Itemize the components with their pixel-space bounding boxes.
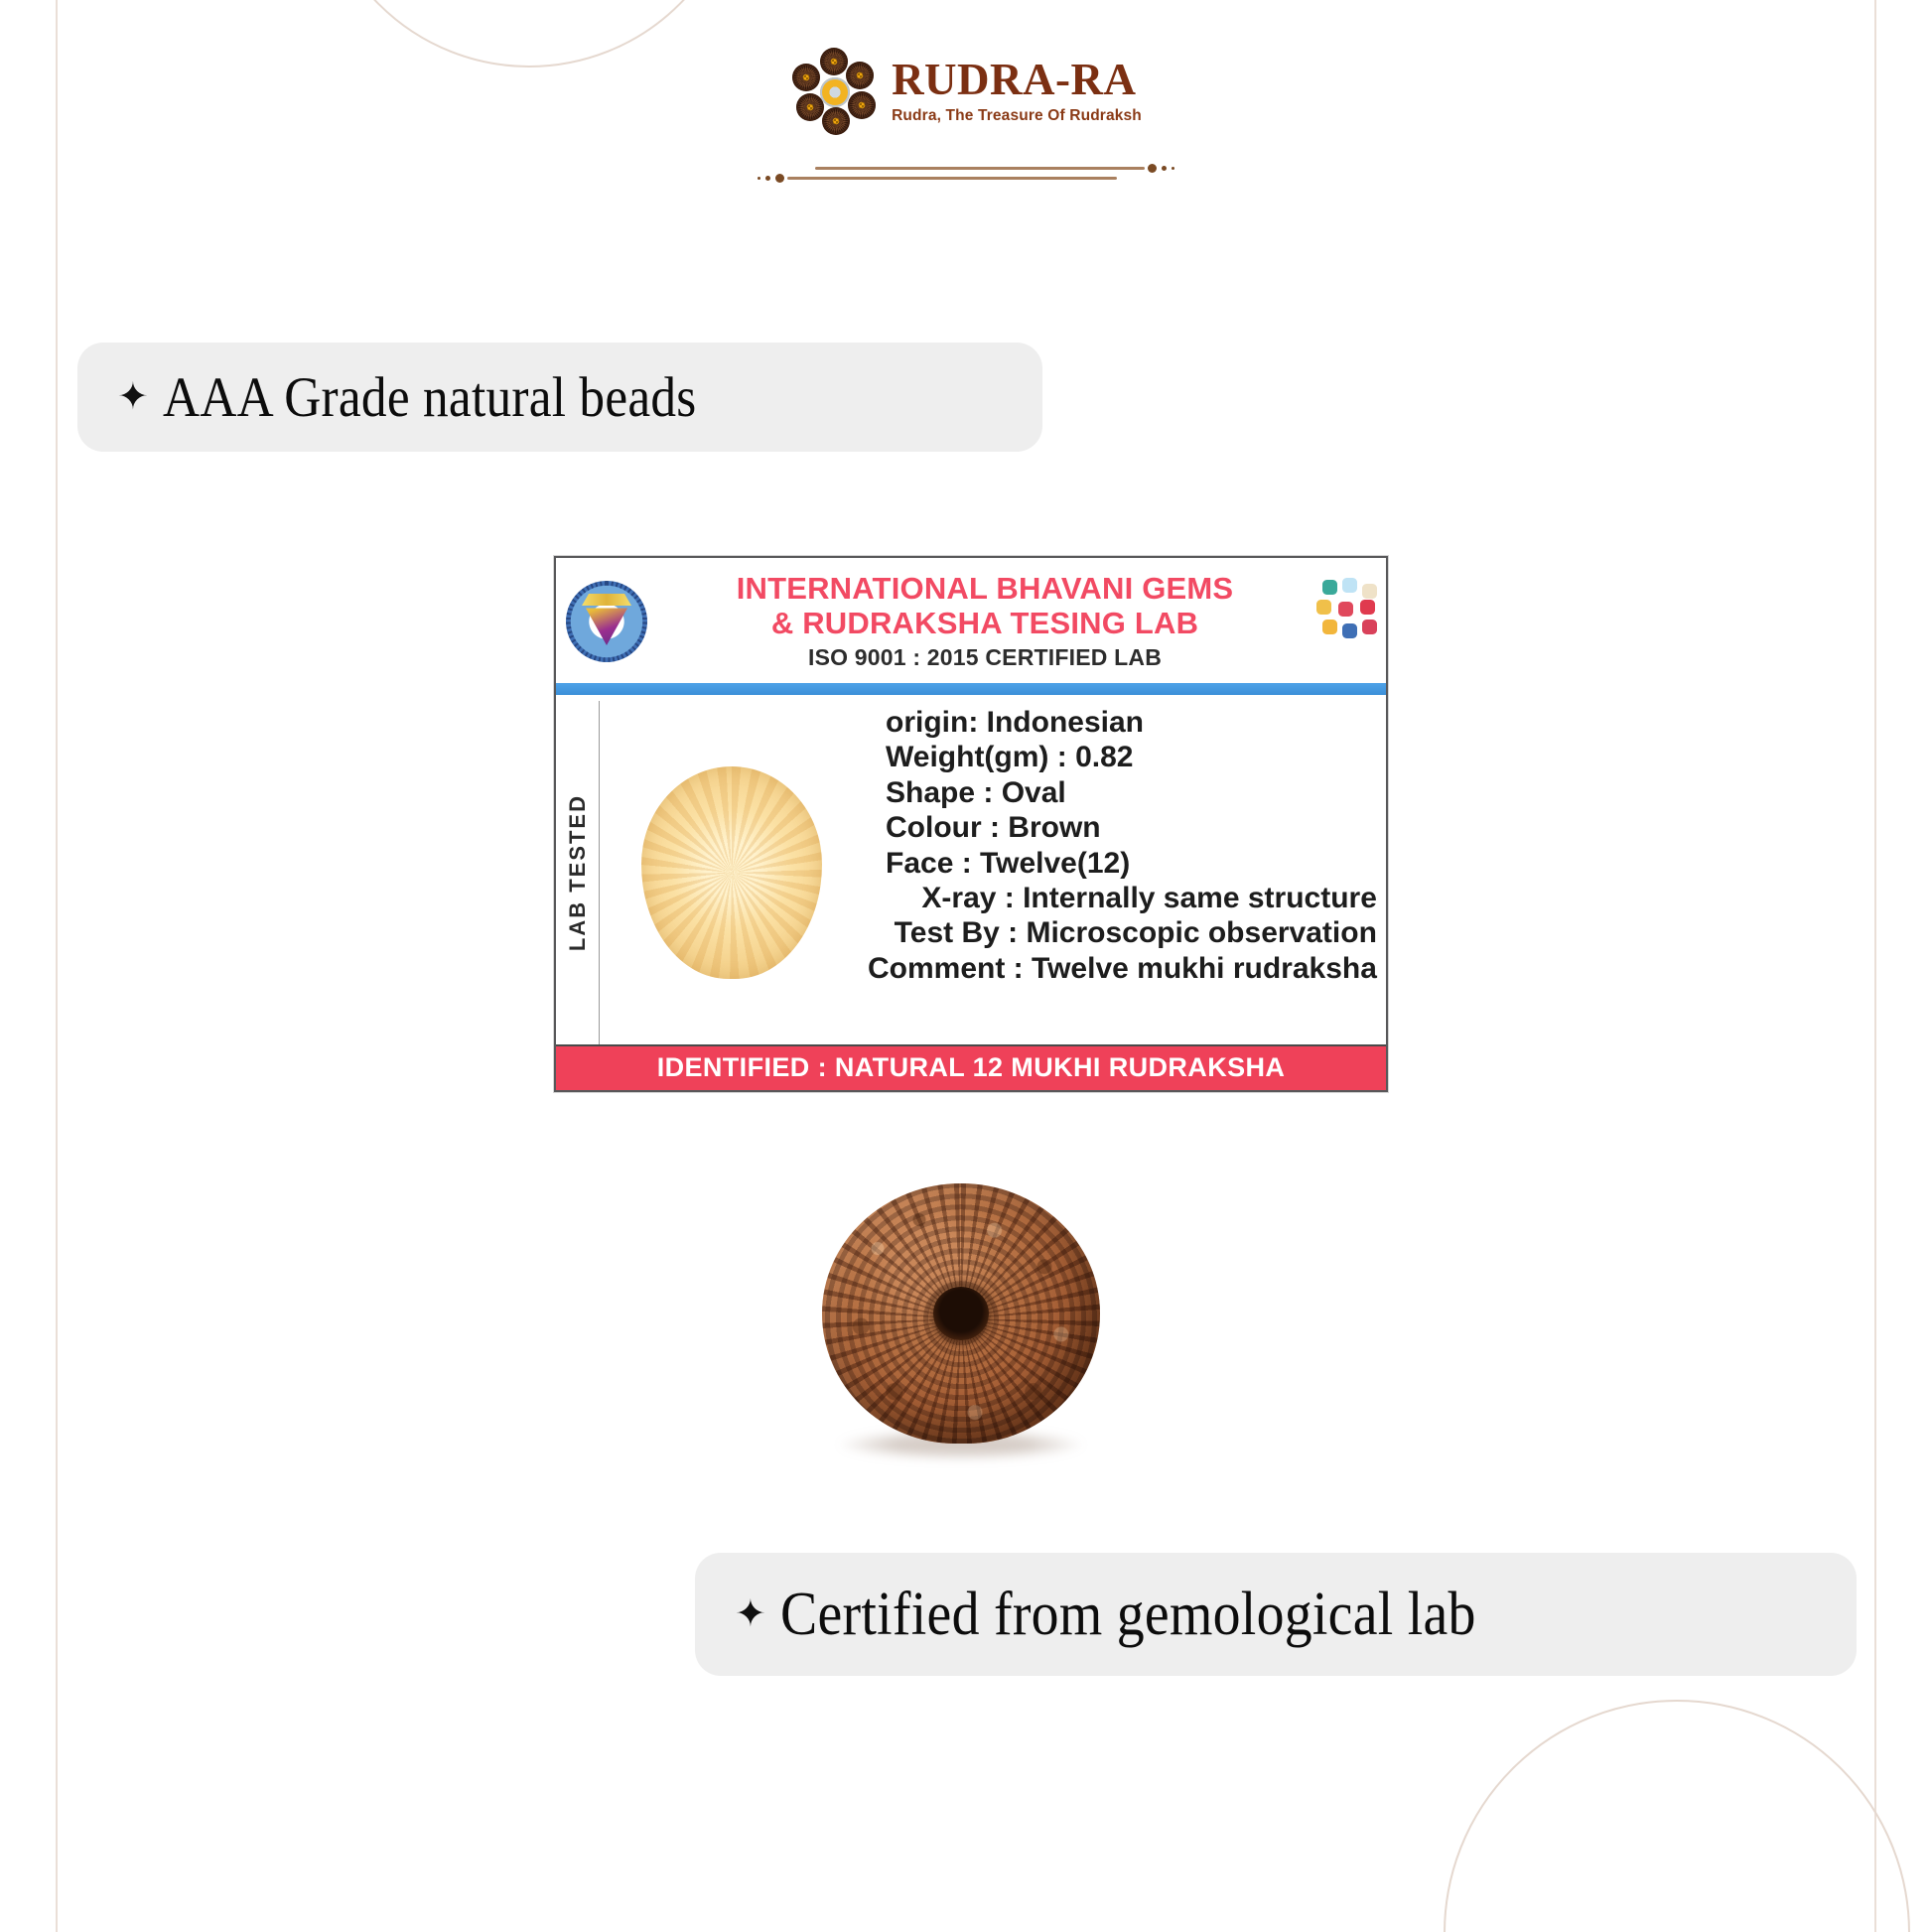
brand-tagline: Rudra, The Treasure Of Rudraksh bbox=[892, 107, 1142, 125]
field-test-by: Test By : Microscopic observation bbox=[868, 915, 1377, 950]
specimen-image bbox=[600, 701, 864, 1044]
lab-seal-diamond-icon bbox=[566, 581, 647, 662]
lab-certificate-card: INTERNATIONAL BHAVANI GEMS & RUDRAKSHA T… bbox=[554, 556, 1388, 1092]
certificate-title-block: INTERNATIONAL BHAVANI GEMS & RUDRAKSHA T… bbox=[653, 572, 1320, 670]
frame-line-left bbox=[56, 0, 58, 1932]
rudraksha-bead-photo-icon bbox=[822, 1183, 1100, 1444]
certificate-iso-line: ISO 9001 : 2015 CERTIFIED LAB bbox=[653, 644, 1316, 671]
feature-badge-grade-label: AAA Grade natural beads bbox=[163, 365, 697, 430]
rudraksha-xray-icon bbox=[641, 766, 822, 979]
ornamental-divider bbox=[758, 159, 1174, 185]
field-weight: Weight(gm) : 0.82 bbox=[868, 740, 1377, 774]
star-bullet-icon: ✦ bbox=[117, 378, 149, 416]
gemstone-cluster-icon bbox=[1320, 580, 1378, 657]
certificate-body: LAB TESTED origin: Indonesian Weight(gm)… bbox=[556, 695, 1386, 1044]
certificate-header: INTERNATIONAL BHAVANI GEMS & RUDRAKSHA T… bbox=[556, 558, 1386, 683]
feature-badge-grade: ✦ AAA Grade natural beads bbox=[77, 343, 1042, 452]
certificate-fields: origin: Indonesian Weight(gm) : 0.82 Sha… bbox=[864, 701, 1388, 1044]
frame-line-right bbox=[1874, 0, 1876, 1932]
certificate-identified-footer: IDENTIFIED : NATURAL 12 MUKHI RUDRAKSHA bbox=[556, 1044, 1386, 1090]
certificate-title-line2: & RUDRAKSHA TESING LAB bbox=[653, 607, 1316, 640]
brand-name: RUDRA-RA bbox=[892, 58, 1142, 103]
brand-header: RUDRA-RA Rudra, The Treasure Of Rudraksh bbox=[0, 48, 1932, 135]
feature-badge-certified: ✦ Certified from gemological lab bbox=[695, 1553, 1857, 1676]
certificate-accent-bar bbox=[556, 683, 1386, 695]
lab-tested-side-label: LAB TESTED bbox=[556, 701, 600, 1044]
field-origin: origin: Indonesian bbox=[868, 705, 1377, 740]
rudraksha-flower-logo-icon bbox=[790, 48, 878, 135]
star-bullet-icon: ✦ bbox=[735, 1595, 766, 1633]
corner-arc-bottom-icon bbox=[1444, 1700, 1910, 1932]
field-face: Face : Twelve(12) bbox=[868, 846, 1377, 881]
lab-tested-text: LAB TESTED bbox=[565, 794, 591, 951]
field-xray: X-ray : Internally same structure bbox=[868, 881, 1377, 915]
field-shape: Shape : Oval bbox=[868, 775, 1377, 810]
poster-page: RUDRA-RA Rudra, The Treasure Of Rudraksh… bbox=[0, 0, 1932, 1932]
feature-badge-certified-label: Certified from gemological lab bbox=[780, 1580, 1476, 1650]
field-comment: Comment : Twelve mukhi rudraksha bbox=[868, 951, 1377, 986]
field-colour: Colour : Brown bbox=[868, 810, 1377, 845]
brand-row: RUDRA-RA Rudra, The Treasure Of Rudraksh bbox=[790, 48, 1142, 135]
brand-text: RUDRA-RA Rudra, The Treasure Of Rudraksh bbox=[892, 58, 1142, 126]
certificate-title-line1: INTERNATIONAL BHAVANI GEMS bbox=[653, 572, 1316, 606]
